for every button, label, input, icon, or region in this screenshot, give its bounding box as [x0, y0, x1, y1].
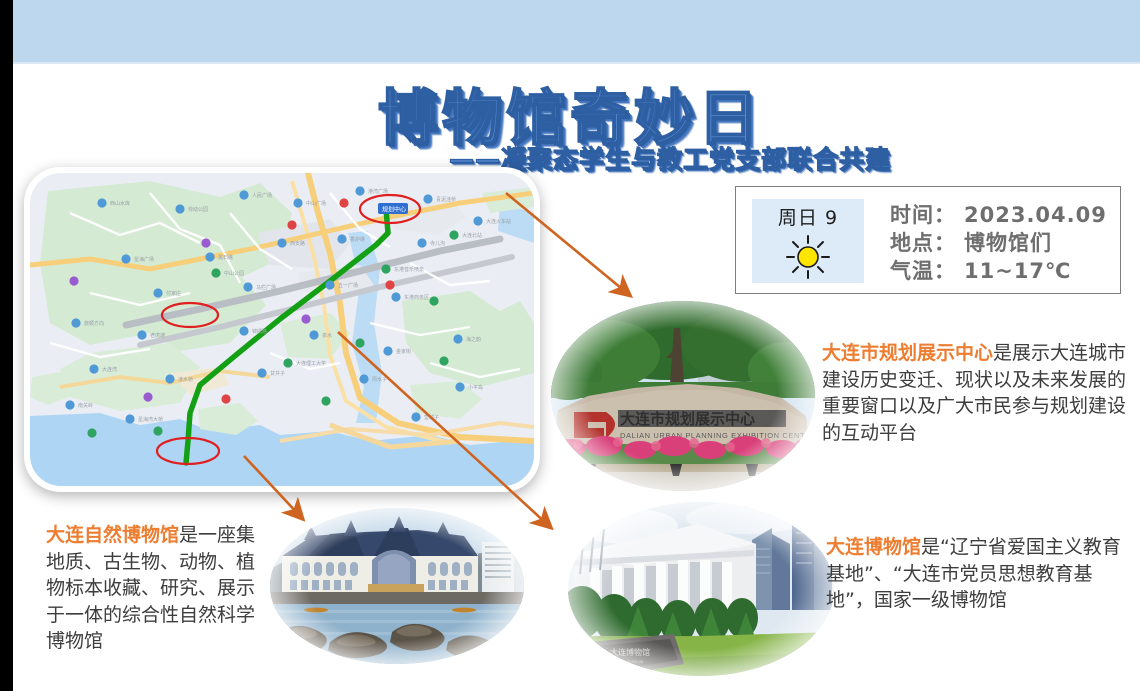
svg-text:周水子: 周水子	[372, 376, 387, 383]
svg-text:泉水: 泉水	[322, 332, 332, 339]
natural-history-museum-photo	[268, 506, 526, 666]
svg-text:黑石礁: 黑石礁	[218, 254, 233, 261]
map-selected-poi: 规划中心	[378, 203, 408, 214]
info-value-date: 2023.04.09	[956, 201, 1107, 229]
info-value-place: 博物馆们	[956, 229, 1052, 257]
top-blue-banner	[13, 0, 1140, 62]
planning-exhibition-center-photo: 大连市规划展示中心 DALIAN URBAN PLANNING EXHIBITI…	[548, 298, 818, 494]
svg-text:大连理工大学: 大连理工大学	[296, 360, 326, 367]
planning-center-description: 大连市规划展示中心是展示大连城市建设历史变迁、现状以及未来发展的重要窗口以及广大…	[822, 340, 1130, 446]
svg-text:西安路: 西安路	[290, 240, 305, 247]
svg-text:青泥洼桥: 青泥洼桥	[436, 196, 456, 203]
svg-text:劳动公园: 劳动公园	[188, 206, 208, 213]
map-canvas: 西山水库劳动公园 人民广场中山广场 港湾广场青泥洼桥 大连火车站星海广场 黑石礁…	[30, 173, 534, 486]
info-value-temp: 11~17℃	[956, 257, 1071, 285]
event-info-panel: 周日 9 时间： 2023.04.09	[735, 186, 1121, 294]
nature-museum-illustration	[268, 506, 526, 666]
svg-text:规划中心: 规划中心	[382, 206, 406, 214]
svg-text:金家街: 金家街	[396, 348, 411, 355]
planning-center-highlight: 大连市规划展示中心	[822, 342, 993, 364]
dalian-museum-description: 大连博物馆是“辽宁省爱国主义教育基地”、“大连市党员思想教育基地”，国家一级博物…	[826, 534, 1122, 614]
svg-text:东港商务区: 东港商务区	[404, 294, 429, 301]
svg-text:寺儿沟: 寺儿沟	[430, 240, 445, 247]
weekday-label: 周日 9	[752, 199, 864, 230]
info-row-temp: 气温： 11~17℃	[890, 257, 1107, 285]
title-area: 博物馆奇妙日 ——凝聚态学生与教工党支部联合共建	[0, 62, 1140, 182]
slide-root: 博物馆奇妙日 ——凝聚态学生与教工党支部联合共建	[0, 0, 1140, 691]
info-row-place: 地点： 博物馆们	[890, 229, 1107, 257]
event-info-list: 时间： 2023.04.09 地点： 博物馆们 气温： 11~17℃	[890, 201, 1107, 285]
svg-text:小平岛: 小平岛	[468, 384, 483, 391]
svg-text:星海湾大桥: 星海湾大桥	[138, 416, 163, 423]
svg-text:甘井子: 甘井子	[270, 370, 285, 377]
info-label-place: 地点：	[890, 229, 956, 257]
svg-text:中山公园: 中山公园	[224, 270, 244, 277]
svg-text:大连火车站: 大连火车站	[486, 218, 511, 225]
dalian-museum-illustration: 大连博物馆 DALIAN MUSEUM	[566, 500, 836, 678]
svg-text:锦绣路: 锦绣路	[252, 328, 267, 335]
svg-text:南关岭: 南关岭	[78, 402, 93, 409]
svg-text:中山广场: 中山广场	[306, 200, 326, 207]
svg-text:老虎滩: 老虎滩	[150, 332, 165, 339]
dalian-museum-photo: 大连博物馆 DALIAN MUSEUM	[566, 500, 836, 678]
svg-text:旅顺方向: 旅顺方向	[84, 320, 104, 327]
nature-museum-highlight: 大连自然博物馆	[46, 524, 179, 546]
svg-text:凌水桥: 凌水桥	[178, 376, 193, 383]
svg-text:东港音乐喷泉: 东港音乐喷泉	[394, 266, 424, 273]
info-label-temp: 气温：	[890, 257, 956, 285]
nature-museum-description: 大连自然博物馆是一座集地质、古生物、动物、植物标本收藏、研究、展示于一体的综合性…	[46, 522, 272, 655]
info-label-date: 时间：	[890, 201, 956, 229]
map-card[interactable]: 西山水库劳动公园 人民广场中山广场 港湾广场青泥洼桥 大连火车站星海广场 黑石礁…	[24, 167, 540, 492]
svg-text:五一广场: 五一广场	[338, 282, 358, 289]
svg-text:大连湾: 大连湾	[102, 366, 117, 373]
weather-card: 周日 9	[752, 199, 864, 283]
map-viewport[interactable]: 西山水库劳动公园 人民广场中山广场 港湾广场青泥洼桥 大连火车站星海广场 黑石礁…	[30, 173, 534, 486]
svg-text:港湾广场: 港湾广场	[368, 188, 388, 195]
svg-text:付家庄: 付家庄	[166, 290, 181, 297]
info-row-date: 时间： 2023.04.09	[890, 201, 1107, 229]
svg-text:香炉礁: 香炉礁	[350, 236, 365, 243]
sun-icon	[781, 232, 835, 280]
dalian-museum-highlight: 大连博物馆	[826, 536, 921, 558]
svg-text:营城子: 营城子	[424, 414, 439, 421]
svg-text:星海广场: 星海广场	[134, 256, 154, 263]
svg-text:马栏广场: 马栏广场	[256, 284, 276, 291]
svg-text:海之韵: 海之韵	[466, 336, 481, 343]
svg-text:人民广场: 人民广场	[252, 192, 272, 199]
svg-text:西山水库: 西山水库	[110, 200, 130, 207]
planning-center-illustration: 大连市规划展示中心 DALIAN URBAN PLANNING EXHIBITI…	[548, 298, 818, 494]
svg-text:大连北站: 大连北站	[462, 232, 482, 239]
